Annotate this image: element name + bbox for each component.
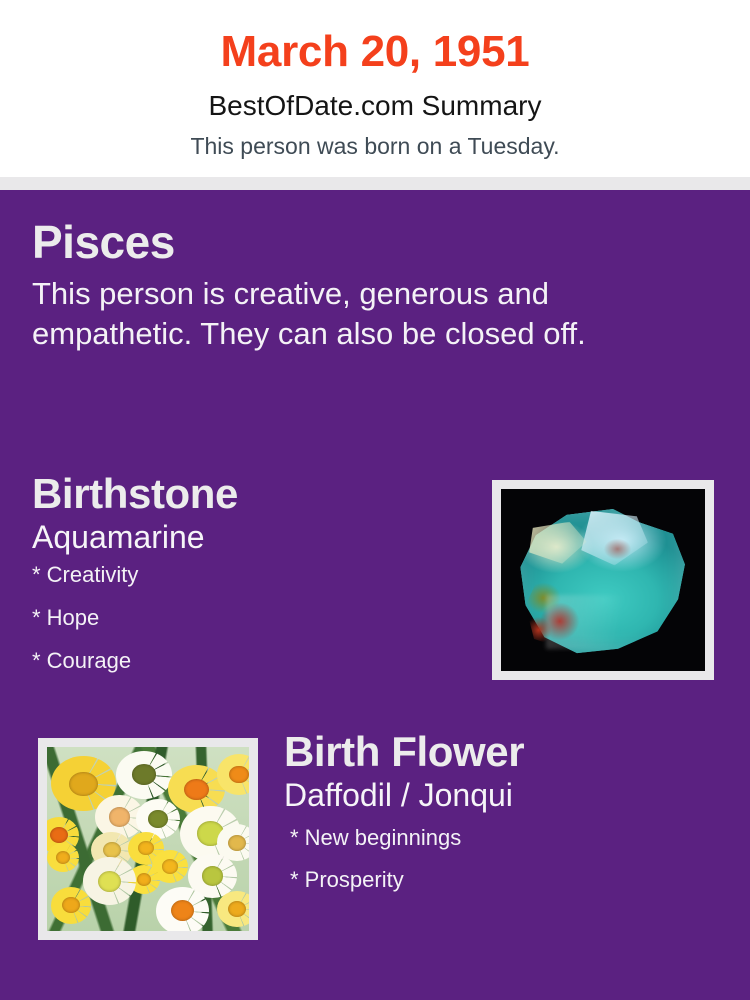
list-item: * New beginnings <box>284 827 724 869</box>
list-item: * Prosperity <box>284 869 724 911</box>
crystal-sheen-icon <box>546 595 660 650</box>
daffodil-field-photo: Field of yellow and white daffodil flowe… <box>47 747 249 931</box>
aquamarine-crystal-photo: Aquamarine crystal specimen on black bac… <box>501 489 705 671</box>
birthstone-name: Aquamarine <box>32 516 482 555</box>
daffodil-bloom-icon <box>116 751 173 799</box>
birthstone-image-frame: Aquamarine crystal specimen on black bac… <box>492 480 714 680</box>
site-summary-label: BestOfDate.com Summary <box>0 74 750 120</box>
list-item: * Hope <box>32 607 482 650</box>
birth-flower-trait-list: * New beginnings * Prosperity <box>284 813 724 911</box>
birthstone-image-alt: Aquamarine crystal specimen on black bac… <box>501 489 502 490</box>
birth-flower-heading: Birth Flower <box>284 730 724 774</box>
birth-flower-image-frame: Field of yellow and white daffodil flowe… <box>38 738 258 940</box>
list-item: * Courage <box>32 650 482 693</box>
daffodil-bloom-icon <box>51 887 91 924</box>
born-day-note: This person was born on a Tuesday. <box>0 120 750 158</box>
zodiac-sign-name: Pisces <box>32 218 718 266</box>
list-item: * Creativity <box>32 564 482 607</box>
card-header: March 20, 1951 BestOfDate.com Summary Th… <box>0 0 750 177</box>
birth-flower-section: Birth Flower Daffodil / Jonqui * New beg… <box>284 730 724 911</box>
birthstone-trait-list: * Creativity * Hope * Courage <box>32 555 482 693</box>
crystal-inclusion-icon <box>591 525 644 572</box>
page-title: March 20, 1951 <box>0 0 750 74</box>
header-divider <box>0 177 750 190</box>
summary-card: March 20, 1951 BestOfDate.com Summary Th… <box>0 0 750 1000</box>
zodiac-section: Pisces This person is creative, generous… <box>32 218 718 354</box>
birthstone-heading: Birthstone <box>32 472 482 516</box>
daffodil-bloom-icon <box>83 857 136 905</box>
content-panel: Pisces This person is creative, generous… <box>0 190 750 1000</box>
zodiac-description: This person is creative, generous and em… <box>32 266 704 353</box>
daffodil-bloom-icon <box>156 887 209 931</box>
birthstone-section: Birthstone Aquamarine * Creativity * Hop… <box>32 472 482 693</box>
birth-flower-name: Daffodil / Jonqui <box>284 774 724 813</box>
